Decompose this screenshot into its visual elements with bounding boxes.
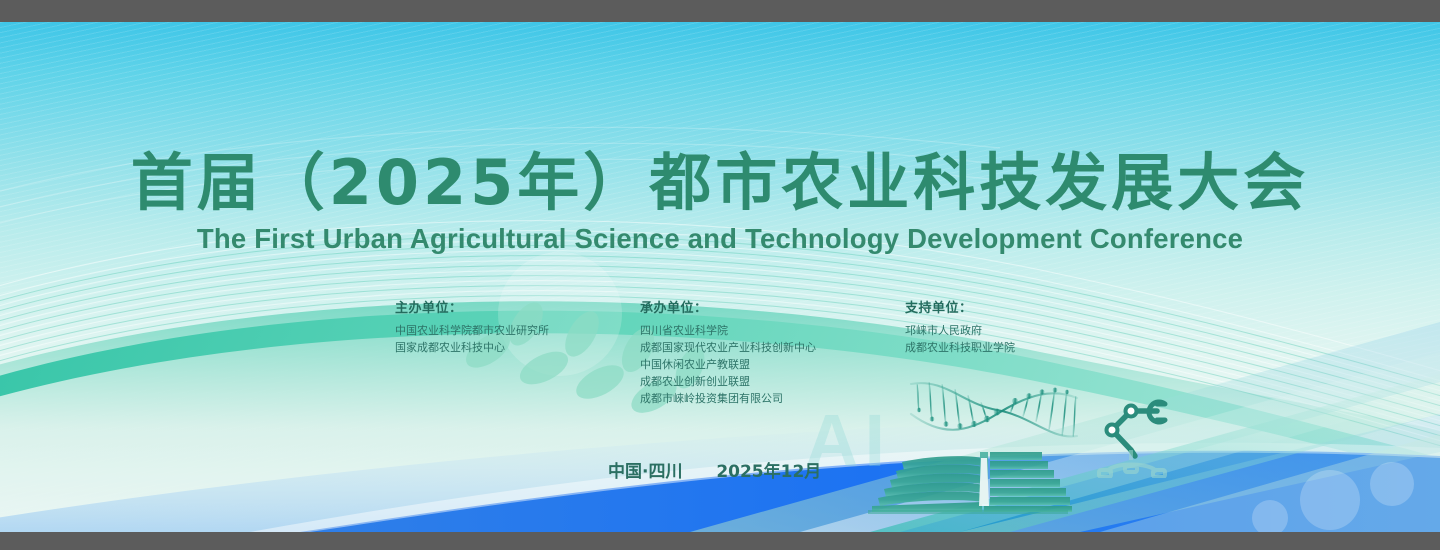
organizer-item: 中国休闲农业产教联盟 <box>640 356 905 373</box>
organizer-column-host: 主办单位： 中国农业科学院都市农业研究所 国家成都农业科技中心 <box>395 297 640 407</box>
location-text: 中国·四川 <box>608 462 682 482</box>
robot-shoulder-joint <box>1107 425 1118 436</box>
organizer-columns: 主办单位： 中国农业科学院都市农业研究所 国家成都农业科技中心 承办单位： 四川… <box>395 297 1095 407</box>
date-text: 2025年12月 <box>716 462 821 482</box>
page-title-en: The First Urban Agricultural Science and… <box>0 223 1440 255</box>
building-plinth <box>868 510 1068 514</box>
organizer-heading-host: 主办单位： <box>395 297 640 316</box>
organizer-heading-supporter: 支持单位： <box>905 297 1095 316</box>
page-title-cn: 首届（2025年）都市农业科技发展大会 <box>0 150 1440 215</box>
organizer-item: 四川省农业科学院 <box>640 322 905 339</box>
conference-poster: AI <box>0 22 1440 532</box>
headline-block: 首届（2025年）都市农业科技发展大会 The First Urban Agri… <box>0 150 1440 255</box>
organizer-item: 邛崃市人民政府 <box>905 322 1095 339</box>
organizer-item: 中国农业科学院都市农业研究所 <box>395 322 640 339</box>
organizer-column-supporter: 支持单位： 邛崃市人民政府 成都农业科技职业学院 <box>905 297 1095 407</box>
stepped-building-icon <box>862 442 1072 514</box>
organizer-column-undertaker: 承办单位： 四川省农业科学院 成都国家现代农业产业科技创新中心 中国休闲农业产教… <box>640 297 905 407</box>
banner-stage: AI <box>0 0 1440 550</box>
organizer-item: 成都市崍岭投资集团有限公司 <box>640 390 905 407</box>
robot-elbow-joint <box>1126 406 1137 417</box>
organizer-item: 成都农业科技职业学院 <box>905 339 1095 356</box>
bottom-chrome-bar <box>0 532 1440 550</box>
organizer-item: 成都国家现代农业产业科技创新中心 <box>640 339 905 356</box>
top-chrome-bar <box>0 0 1440 22</box>
organizer-heading-undertaker: 承办单位： <box>640 297 905 316</box>
robotic-arm-icon <box>1095 394 1195 478</box>
organizer-item: 国家成都农业科技中心 <box>395 339 640 356</box>
location-date-line: 中国·四川 2025年12月 <box>608 457 821 482</box>
organizer-item: 成都农业创新创业联盟 <box>640 373 905 390</box>
robot-base <box>1099 450 1165 477</box>
